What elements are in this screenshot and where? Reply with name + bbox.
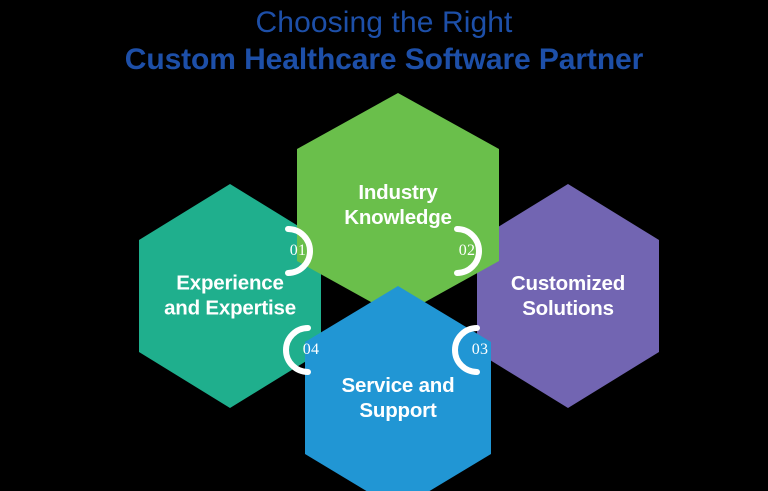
badge-03-number: 03 xyxy=(441,324,506,376)
badge-03: 03 xyxy=(441,324,493,376)
hexagon-label-industry-knowledge: Industry Knowledge xyxy=(315,180,481,230)
badge-02: 02 xyxy=(441,225,493,277)
hexagon-industry-knowledge[interactable]: Industry Knowledge xyxy=(297,93,499,317)
hexagon-service-and-support[interactable]: Service and Support xyxy=(305,286,491,491)
badge-04-number: 04 xyxy=(272,324,337,376)
infographic-canvas: Choosing the Right Custom Healthcare Sof… xyxy=(0,0,768,491)
hexagon-label-experience-and-expertise: Experience and Expertise xyxy=(140,271,319,321)
badge-02-number: 02 xyxy=(441,225,506,277)
hexagon-label-service-and-support: Service and Support xyxy=(315,373,481,423)
hexagon-cluster: Experience and Expertise Customized Solu… xyxy=(0,0,768,491)
badge-04: 04 xyxy=(272,324,324,376)
badge-01-number: 01 xyxy=(272,225,337,277)
hexagon-label-customized-solutions: Customized Solutions xyxy=(485,271,651,321)
badge-01: 01 xyxy=(272,225,324,277)
